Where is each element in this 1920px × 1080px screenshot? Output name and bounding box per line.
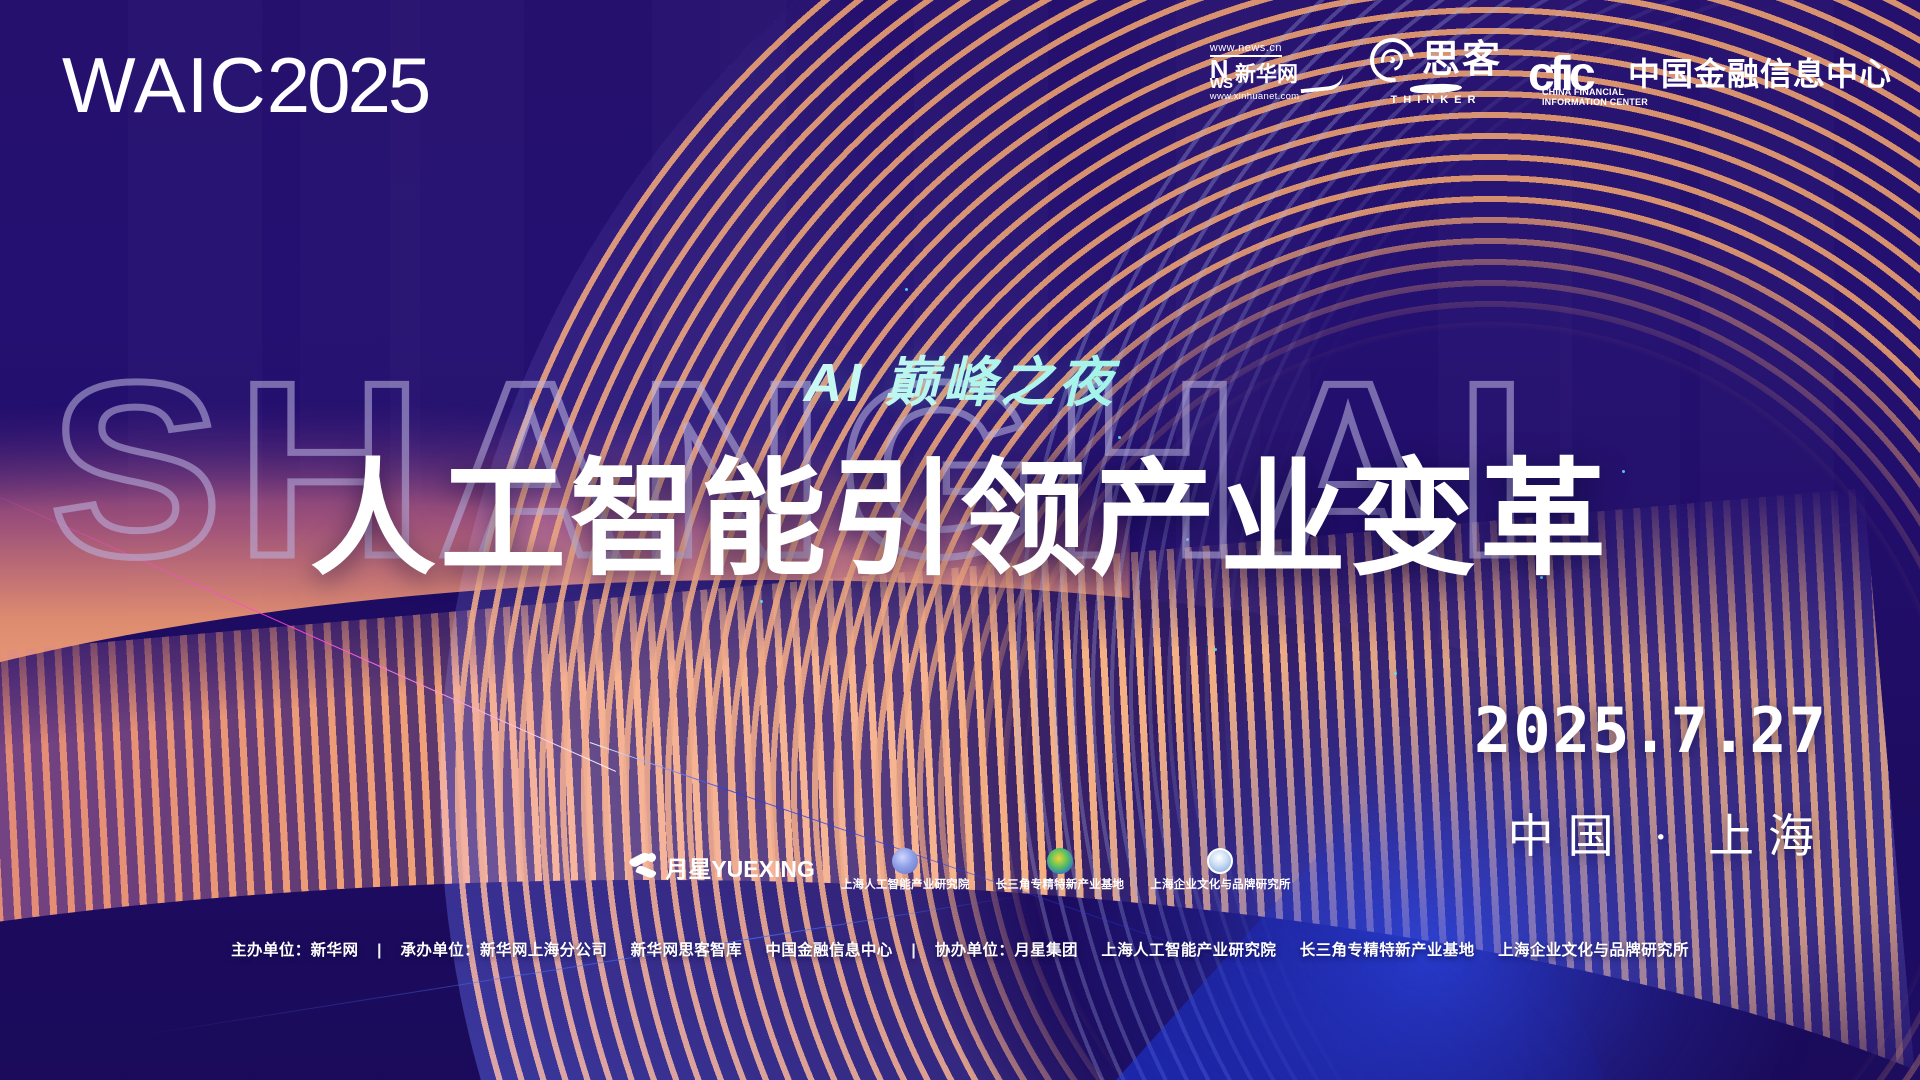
sponsor-yuexing-label: 月星YUEXING bbox=[665, 850, 815, 884]
xinhuanet-url-bottom: www.xinhuanet.com bbox=[1210, 92, 1300, 102]
waic-logo-text: WAIC bbox=[62, 41, 267, 129]
credits-organizer: 承办单位：新华网上海分公司 bbox=[401, 942, 608, 959]
event-date: 2025.7.27 bbox=[1474, 694, 1828, 767]
sponsor-yuexing: 月星YUEXING bbox=[629, 850, 815, 892]
credits-separator-2: | bbox=[897, 942, 930, 960]
credits-organizer-2: 新华网思客智库 bbox=[631, 942, 742, 959]
thinker-logo-row: 思客 bbox=[1370, 38, 1502, 82]
thinker-cn: 思客 bbox=[1422, 41, 1502, 79]
sparkle-dot bbox=[1394, 672, 1397, 675]
event-subtitle: AI 巅峰之夜 bbox=[0, 338, 1920, 417]
bird-icon bbox=[629, 852, 659, 882]
xinhuanet-cn: 新华网 bbox=[1235, 64, 1298, 85]
cfic-cn: 中国金融信息中心 bbox=[1628, 49, 1892, 95]
xinhuanet-nws-mark: N WS bbox=[1210, 59, 1232, 91]
thinker-logo: 思客 THINKER bbox=[1370, 38, 1502, 106]
cfic-mark: cfic CHINA FINANCIAL INFORMATION CENTER bbox=[1528, 47, 1616, 97]
cfic-subtitle-line2: INFORMATION CENTER bbox=[1542, 97, 1648, 107]
xinhuanet-logo: www.news.cn N WS 新华网 www.xinhuanet.com bbox=[1210, 43, 1344, 101]
sparkle-dot bbox=[1214, 648, 1217, 651]
credits-organizer-3: 中国金融信息中心 bbox=[765, 942, 892, 959]
event-headline: 人工智能引领产业变革 bbox=[0, 418, 1920, 600]
credits-coorganizer-3: 长三角专精特新产业基地 bbox=[1300, 942, 1475, 959]
sponsor-csj-label: 长三角专精特新产业基地 bbox=[996, 876, 1125, 892]
sponsor-saii: 上海人工智能产业研究院 bbox=[841, 848, 970, 892]
credits-coorganizer-2: 上海人工智能产业研究院 bbox=[1101, 942, 1276, 959]
sponsor-qywh-label: 上海企业文化与品牌研究所 bbox=[1150, 876, 1290, 892]
credits-line: 主办单位：新华网 | 承办单位：新华网上海分公司 新华网思客智库 中国金融信息中… bbox=[0, 938, 1920, 960]
sponsor-csj: 长三角专精特新产业基地 bbox=[996, 848, 1125, 892]
thinker-en: THINKER bbox=[1391, 95, 1482, 106]
cfic-subtitle-line1: CHINA FINANCIAL bbox=[1542, 87, 1648, 97]
map-badge-icon bbox=[1047, 848, 1073, 874]
credits-separator: | bbox=[363, 942, 396, 960]
xinhuanet-wordmark: N WS 新华网 bbox=[1210, 59, 1344, 91]
credits-coorganizer-4: 上海企业文化与品牌研究所 bbox=[1498, 942, 1689, 959]
cfic-subtitle: CHINA FINANCIAL INFORMATION CENTER bbox=[1542, 87, 1648, 108]
globe-badge-icon bbox=[892, 848, 918, 874]
partner-logo-row: www.news.cn N WS 新华网 www.xinhuanet.com 思… bbox=[1210, 34, 1892, 110]
credits-coorganizer: 协办单位：月星集团 bbox=[935, 942, 1078, 959]
sparkle-dot bbox=[905, 288, 908, 291]
credits-host: 主办单位：新华网 bbox=[231, 942, 358, 959]
sponsor-logo-row: 月星YUEXING 上海人工智能产业研究院 长三角专精特新产业基地 上海企业文化… bbox=[0, 848, 1920, 892]
sparkle-dot bbox=[760, 600, 763, 603]
xinhuanet-mark-ws: WS bbox=[1210, 78, 1232, 90]
xinhuanet-swoosh-icon bbox=[1299, 72, 1344, 93]
waic-logo: WAIC2025 bbox=[62, 40, 428, 131]
cfic-logo: cfic CHINA FINANCIAL INFORMATION CENTER … bbox=[1528, 47, 1892, 97]
seal-badge-icon bbox=[1207, 848, 1233, 874]
event-keyvisual-poster: SHANGHAI WAIC2025 www.news.cn N WS 新华网 w… bbox=[0, 0, 1920, 1080]
swirl-brush-icon bbox=[1370, 38, 1414, 82]
thinker-brush-stroke-icon bbox=[1410, 83, 1462, 95]
waic-logo-year: 2025 bbox=[267, 41, 429, 129]
sponsor-saii-label: 上海人工智能产业研究院 bbox=[841, 876, 970, 892]
sponsor-qywh: 上海企业文化与品牌研究所 bbox=[1150, 848, 1290, 892]
